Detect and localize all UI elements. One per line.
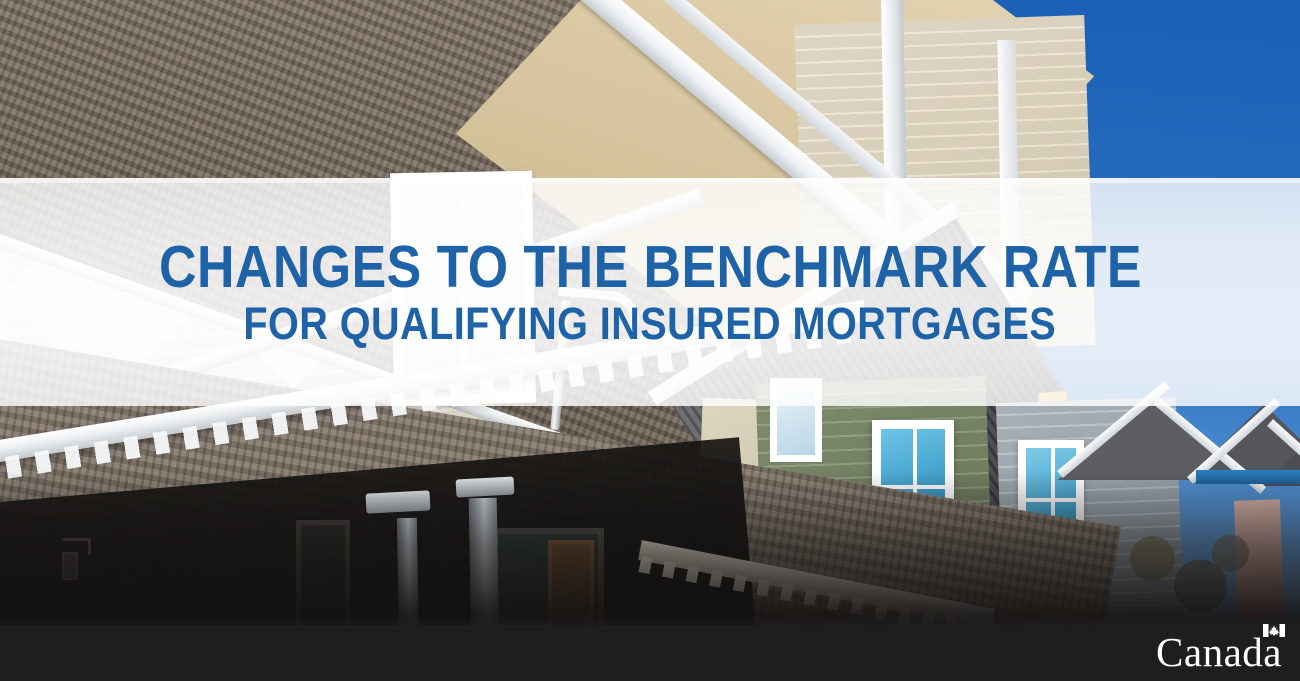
promotional-banner: CHANGES TO THE BENCHMARK RATE FOR QUALIF…: [0, 0, 1300, 681]
canadian-flag-icon: [1263, 624, 1285, 637]
government-of-canada-wordmark: Canada: [1156, 628, 1284, 676]
headline-secondary: FOR QUALIFYING INSURED MORTGAGES: [244, 301, 1057, 347]
photo-bottom-vignette: [0, 470, 1300, 640]
headline-block: CHANGES TO THE BENCHMARK RATE FOR QUALIF…: [0, 178, 1300, 406]
wordmark-text: Canada: [1156, 632, 1284, 673]
footer-bar: [0, 625, 1300, 681]
headline-primary: CHANGES TO THE BENCHMARK RATE: [159, 237, 1142, 297]
